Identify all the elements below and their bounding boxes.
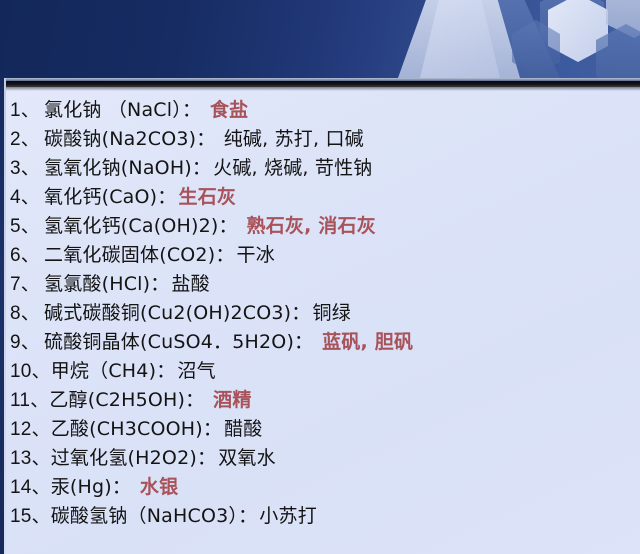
list-item-number: 11、	[10, 386, 49, 415]
list-item: 6、二氧化碳固体(CO2)：干冰	[0, 241, 640, 270]
list-item: 14、汞(Hg)： 水银	[0, 473, 640, 502]
list-item-common-name: 火碱, 烧碱, 苛性钠	[211, 157, 372, 179]
list-item-common-name: 纯碱, 苏打, 口碱	[215, 128, 363, 150]
list-item-compound: 氧化钙(CaO)：	[44, 186, 177, 208]
list-item: 7、氢氯酸(HCl)：盐酸	[0, 270, 640, 299]
list-item: 3、氢氧化钠(NaOH)：火碱, 烧碱, 苛性钠	[0, 154, 640, 183]
list-item-common-name: 双氧水	[216, 447, 276, 469]
list-item-common-name: 酒精	[204, 389, 251, 411]
list-item-compound: 过氧化氢(H2O2)：	[51, 447, 216, 469]
list-item-number: 2、	[10, 125, 44, 154]
list-item-number: 1、	[10, 96, 44, 125]
list-item: 10、甲烷（CH4)：沼气	[0, 357, 640, 386]
list-item-number: 5、	[10, 212, 44, 241]
slide-canvas: 1、氯化钠 （NaCl）： 食盐2、碳酸钠(Na2CO3)： 纯碱, 苏打, 口…	[0, 0, 640, 554]
list-item-number: 7、	[10, 270, 44, 299]
list-item-common-name: 醋酸	[222, 418, 262, 440]
hexagon-decoration-icon	[0, 0, 640, 78]
list-item-common-name: 沼气	[175, 360, 215, 382]
list-item: 1、氯化钠 （NaCl）： 食盐	[0, 96, 640, 125]
list-item-number: 10、	[10, 357, 51, 386]
list-item-number: 3、	[10, 154, 44, 183]
title-banner	[0, 0, 640, 78]
list-item-compound: 硫酸铜晶体(CuSO4．5H2O)：	[44, 331, 313, 353]
list-item-number: 14、	[10, 473, 51, 502]
list-item-compound: 氢氧化钠(NaOH)：	[44, 157, 211, 179]
list-item-number: 13、	[10, 444, 51, 473]
list-item: 4、氧化钙(CaO)：生石灰	[0, 183, 640, 212]
list-item: 13、过氧化氢(H2O2)：双氧水	[0, 444, 640, 473]
list-item: 2、碳酸钠(Na2CO3)： 纯碱, 苏打, 口碱	[0, 125, 640, 154]
list-item: 11、乙醇(C2H5OH)： 酒精	[0, 386, 640, 415]
list-item-compound: 甲烷（CH4)：	[51, 360, 176, 382]
list-item-common-name: 食盐	[201, 99, 248, 121]
list-item: 5、氢氧化钙(Ca(OH)2)： 熟石灰, 消石灰	[0, 212, 640, 241]
list-item-compound: 碱式碳酸铜(Cu2(OH)2CO3)：	[44, 302, 311, 324]
list-item-compound: 乙醇(C2H5OH)：	[49, 389, 204, 411]
list-item: 9、硫酸铜晶体(CuSO4．5H2O)： 蓝矾, 胆矾	[0, 328, 640, 357]
list-item-number: 6、	[10, 241, 44, 270]
chemical-common-names-list: 1、氯化钠 （NaCl）： 食盐2、碳酸钠(Na2CO3)： 纯碱, 苏打, 口…	[0, 96, 640, 531]
list-item-common-name: 盐酸	[169, 273, 209, 295]
list-item-compound: 汞(Hg)：	[51, 476, 131, 498]
list-item-number: 9、	[10, 328, 44, 357]
list-item-number: 4、	[10, 183, 44, 212]
list-item-compound: 氢氯酸(HCl)：	[44, 273, 169, 295]
list-item: 15、碳酸氢钠（NaHCO3）：小苏打	[0, 502, 640, 531]
list-item-compound: 碳酸氢钠（NaHCO3）：	[51, 505, 258, 527]
list-item-common-name: 水银	[131, 476, 178, 498]
list-item-common-name: 熟石灰, 消石灰	[238, 215, 376, 237]
list-item-compound: 碳酸钠(Na2CO3)：	[44, 128, 215, 150]
list-item-common-name: 小苏打	[257, 505, 317, 527]
list-item-compound: 氯化钠 （NaCl）：	[44, 99, 201, 121]
banner-shadow-fade	[0, 87, 640, 91]
list-item-common-name: 蓝矾, 胆矾	[313, 331, 413, 353]
list-item-common-name: 干冰	[235, 244, 275, 266]
list-item-number: 8、	[10, 299, 44, 328]
list-item-compound: 氢氧化钙(Ca(OH)2)：	[44, 215, 238, 237]
list-item-number: 12、	[10, 415, 51, 444]
list-item-common-name: 生石灰	[177, 186, 237, 208]
list-item-common-name: 铜绿	[311, 302, 351, 324]
list-item-compound: 二氧化碳固体(CO2)：	[44, 244, 235, 266]
list-item: 8、碱式碳酸铜(Cu2(OH)2CO3)：铜绿	[0, 299, 640, 328]
list-item: 12、乙酸(CH3COOH)：醋酸	[0, 415, 640, 444]
list-item-number: 15、	[10, 502, 51, 531]
list-item-compound: 乙酸(CH3COOH)：	[51, 418, 222, 440]
